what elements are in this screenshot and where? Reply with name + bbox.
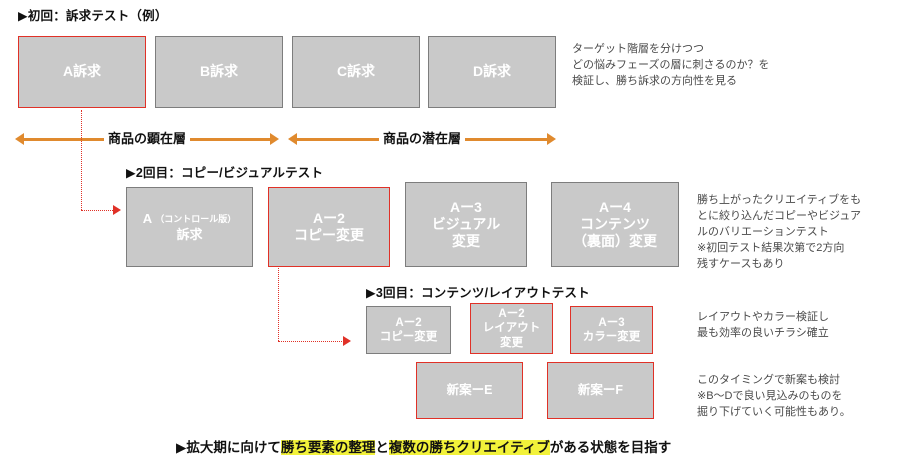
diagram-canvas: ▶初回：訴求テスト（例） A訴求 B訴求 C訴求 D訴求 ターゲット階層を分けつ… [0,0,898,465]
round2-box-a3-line3: 変更 [452,233,480,250]
newidea-note: このタイミングで新案も検討 ※B～Dで良い見込みのものを 掘り下げていく可能性も… [697,373,897,421]
round2-box-a4-line1: Aー4 [599,199,631,216]
round3-box-a3-color-line2: カラー変更 [583,330,641,344]
round2-box-a2-line2: コピー変更 [294,227,364,244]
round1-box-c[interactable]: C訴求 [292,36,420,108]
conclusion-line: ▶拡大期に向けて勝ち要素の整理と複数の勝ちクリエイティブがある状態を目指す [176,440,671,456]
connector-round2-arrowhead-icon [343,336,351,346]
round2-box-a-control[interactable]: A （コントロール版） 訴求 [126,187,253,267]
round1-box-c-label: C訴求 [337,63,375,80]
newidea-box-e-label: 新案ーE [447,383,493,398]
connector-round1-arrowhead-icon [113,205,121,215]
round1-box-a[interactable]: A訴求 [18,36,146,108]
connector-round1-to-round2-horizontal [81,210,115,211]
round3-box-a2-copy-line2: コピー変更 [380,330,438,344]
round3-box-a2-layout[interactable]: Aー2 レイアウト 変更 [470,303,553,354]
round1-box-d-label: D訴求 [473,63,511,80]
round1-box-b-label: B訴求 [200,63,238,80]
arrow-band-manifest: 商品の顕在層 [15,128,279,150]
newidea-box-e[interactable]: 新案ーE [416,362,523,419]
round3-heading: ▶3回目：コンテンツ/レイアウトテスト [366,287,590,300]
round1-heading: ▶初回：訴求テスト（例） [18,10,168,23]
conclusion-part2: と [375,440,389,455]
arrow-label-latent: 商品の潜在層 [379,128,465,149]
round2-box-a3-line2: ビジュアル [432,216,501,233]
round3-box-a2-layout-line2: レイアウト [483,321,541,335]
round3-box-a3-color[interactable]: Aー3 カラー変更 [570,306,653,354]
round2-box-a3-line1: Aー3 [450,199,482,216]
round2-box-a4-line3: （裏面）変更 [573,233,657,250]
round3-box-a2-layout-line1: Aー2 [498,307,524,321]
round3-box-a2-copy-line1: Aー2 [395,316,421,330]
arrow-right-head-icon [270,133,279,145]
round3-box-a3-color-line1: Aー3 [598,316,624,330]
round2-note: 勝ち上がったクリエイティブをも とに絞り込んだコピーやビジュア ルのバリエーショ… [697,193,897,273]
round2-box-a4-line2: コンテンツ [580,216,650,233]
connector-round2-to-round3-vertical [278,268,279,341]
round1-box-d[interactable]: D訴求 [428,36,556,108]
connector-round2-to-round3-horizontal [278,341,344,342]
round1-box-b[interactable]: B訴求 [155,36,283,108]
conclusion-part1: ▶拡大期に向けて [176,440,281,455]
arrow-label-manifest: 商品の顕在層 [104,128,190,149]
round2-box-a2[interactable]: Aー2 コピー変更 [268,187,390,267]
round2-box-a2-line1: Aー2 [313,210,345,227]
round2-heading: ▶2回目：コピー/ビジュアルテスト [126,167,323,180]
arrow-left-head-icon [15,133,24,145]
newidea-box-f-label: 新案ーF [578,383,623,398]
arrow-right-head-icon [547,133,556,145]
arrow-left-head-icon [288,133,297,145]
round1-note: ターゲット階層を分けつつ どの悩みフェーズの層に刺さるのか？を 検証し、勝ち訴求… [572,42,892,90]
round2-box-a3[interactable]: Aー3 ビジュアル 変更 [405,182,527,267]
conclusion-part3: がある状態を目指す [550,440,672,455]
round3-box-a2-copy[interactable]: Aー2 コピー変更 [366,306,451,354]
round2-box-a-line1: A （コントロール版） [143,211,237,227]
newidea-box-f[interactable]: 新案ーF [547,362,654,419]
round2-box-a4[interactable]: Aー4 コンテンツ （裏面）変更 [551,182,679,267]
conclusion-highlight-1: 勝ち要素の整理 [281,440,376,455]
round2-box-a-sub: （コントロール版） [155,214,236,224]
conclusion-highlight-2: 複数の勝ちクリエイティブ [389,440,550,455]
round3-box-a2-layout-line3: 変更 [500,336,523,350]
arrow-band-latent: 商品の潜在層 [288,128,556,150]
round1-box-a-label: A訴求 [63,63,101,80]
round3-note: レイアウトやカラー検証し 最も効率の良いチラシ確立 [697,310,897,342]
connector-round1-to-round2-vertical [81,110,82,210]
round2-box-a-line2: 訴求 [176,227,202,243]
